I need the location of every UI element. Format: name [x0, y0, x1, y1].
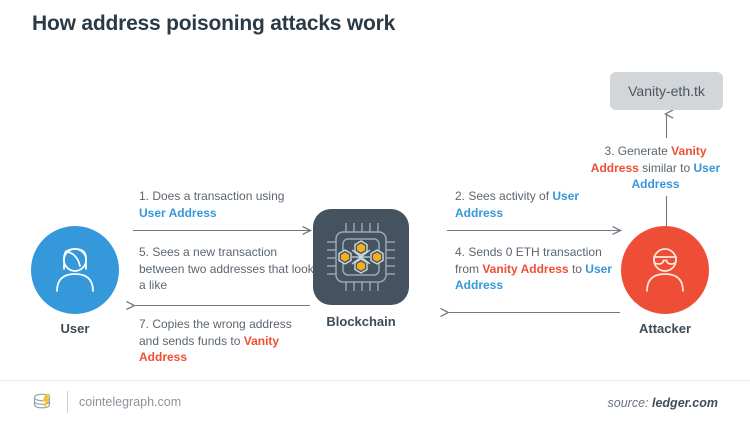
vanity-domain-box: Vanity-eth.tk: [610, 72, 723, 110]
user-node: User: [31, 226, 119, 336]
step-3-text-similar: similar to: [639, 161, 694, 175]
user-avatar-circle: [31, 226, 119, 314]
cointelegraph-logo-icon: [30, 389, 56, 415]
step-4-text-to: to: [569, 262, 586, 276]
footer-source: source: ledger.com: [608, 396, 718, 410]
footer-brand: cointelegraph.com: [30, 389, 181, 415]
infographic-canvas: How address poisoning attacks work Vanit…: [0, 0, 750, 430]
blockchain-chip-box: [313, 209, 409, 305]
step-5-label: 5. Sees a new transaction between two ad…: [139, 244, 314, 294]
blockchain-chip-icon: [321, 217, 401, 297]
user-avatar-icon: [44, 239, 106, 301]
step-2-text-plain: 2. Sees activity of: [455, 189, 552, 203]
masked-attacker-icon: [634, 239, 696, 301]
attacker-node-label: Attacker: [621, 321, 709, 336]
step-4-label: 4. Sends 0 ETH transaction from Vanity A…: [455, 244, 620, 294]
step-5-text-plain: 5. Sees a new transaction between two ad…: [139, 245, 314, 292]
blockchain-node: Blockchain: [313, 209, 409, 329]
step-2-label: 2. Sees activity of User Address: [455, 188, 615, 221]
footer-brand-label: cointelegraph.com: [79, 395, 181, 409]
attacker-node: Attacker: [621, 226, 709, 336]
user-node-label: User: [31, 321, 119, 336]
footer-source-name: ledger.com: [652, 396, 718, 410]
footer-separator: [67, 391, 68, 413]
blockchain-node-label: Blockchain: [313, 314, 409, 329]
step-1-text-user-address: User Address: [139, 206, 217, 220]
step-7-label: 7. Copies the wrong address and sends fu…: [139, 316, 314, 366]
step-3-text-plain: 3. Generate: [604, 144, 671, 158]
step-4-text-vanity-address: Vanity Address: [482, 262, 568, 276]
vanity-domain-label: Vanity-eth.tk: [628, 83, 705, 99]
step-1-text-plain: 1. Does a transaction using: [139, 189, 284, 203]
step-1-label: 1. Does a transaction using User Address: [139, 188, 314, 221]
footer-source-prefix: source:: [608, 396, 652, 410]
step-3-label: 3. Generate Vanity Address similar to Us…: [588, 143, 723, 193]
footer-divider: [0, 380, 750, 381]
attacker-avatar-circle: [621, 226, 709, 314]
